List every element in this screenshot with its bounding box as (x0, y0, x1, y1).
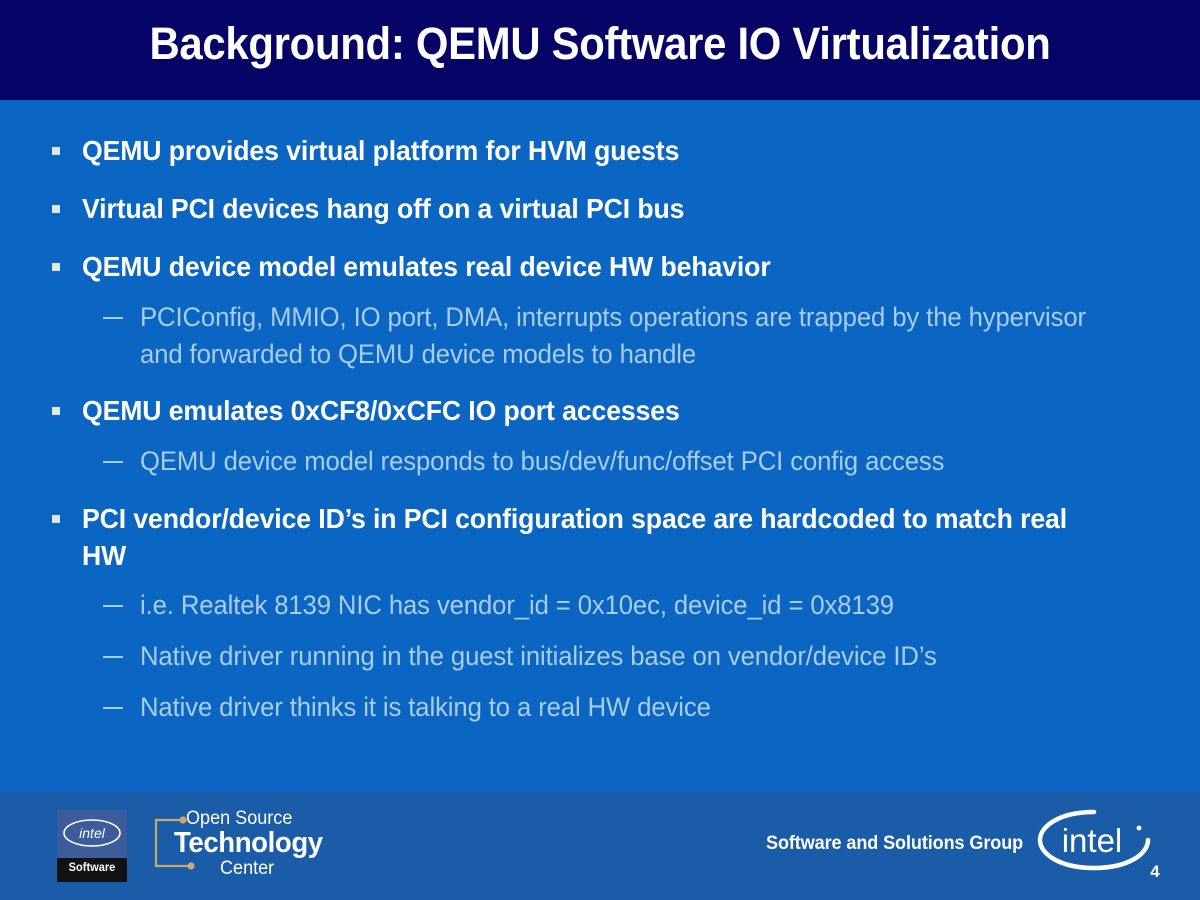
svg-text:intel: intel (79, 825, 106, 841)
page-number: 4 (1140, 862, 1170, 882)
bullet-text: QEMU device model emulates real device H… (82, 248, 771, 285)
svg-text:intel: intel (1062, 822, 1123, 859)
sub-bullet-item-1: PCIConfig, MMIO, IO port, DMA, interrupt… (103, 299, 1138, 373)
ostc-line-technology: Technology (174, 827, 323, 860)
bullet-text: Virtual PCI devices hang off on a virtua… (82, 190, 684, 227)
ostc-line-center: Center (220, 858, 274, 880)
sub-bullet-item-3: i.e. Realtek 8139 NIC has vendor_id = 0x… (103, 587, 1138, 624)
sub-bullet-item-5: Native driver thinks it is talking to a … (103, 689, 1138, 726)
bullet-item-4: QEMU emulates 0xCF8/0xCFC IO port access… (52, 392, 1152, 429)
sub-bullet-text: i.e. Realtek 8139 NIC has vendor_id = 0x… (140, 587, 894, 624)
intel-logo-icon: intel (1036, 806, 1156, 874)
square-bullet-icon (52, 263, 60, 271)
sub-bullet-text: Native driver thinks it is talking to a … (140, 689, 711, 726)
badge-division-label: Software (60, 860, 124, 874)
dash-bullet-icon (103, 461, 123, 463)
page-title: Background: QEMU Software IO Virtualizat… (42, 14, 1158, 74)
intel-software-badge: intel Software (57, 810, 127, 882)
dash-bullet-icon (103, 656, 123, 658)
dash-bullet-icon (103, 707, 123, 709)
bullet-text: QEMU emulates 0xCF8/0xCFC IO port access… (82, 392, 680, 429)
square-bullet-icon (52, 205, 60, 213)
sub-bullet-text: PCIConfig, MMIO, IO port, DMA, interrupt… (140, 299, 1088, 373)
square-bullet-icon (52, 515, 60, 523)
title-band: Background: QEMU Software IO Virtualizat… (0, 0, 1200, 100)
sub-bullet-item-2: QEMU device model responds to bus/dev/fu… (103, 443, 1163, 480)
bullet-text: QEMU provides virtual platform for HVM g… (82, 132, 679, 169)
square-bullet-icon (52, 147, 60, 155)
slide-body: QEMU provides virtual platform for HVM g… (0, 100, 1200, 792)
intel-small-logo-icon: intel (57, 818, 127, 853)
bullet-item-2: Virtual PCI devices hang off on a virtua… (52, 190, 1152, 227)
sub-bullet-text: Native driver running in the guest initi… (140, 638, 937, 675)
open-source-technology-center-logo: Open Source Technology Center (150, 808, 340, 886)
slide: Background: QEMU Software IO Virtualizat… (0, 0, 1200, 900)
dash-bullet-icon (103, 605, 123, 607)
dash-bullet-icon (103, 317, 123, 319)
bullet-item-5: PCI vendor/device ID’s in PCI configurat… (52, 500, 1132, 574)
bullet-text: PCI vendor/device ID’s in PCI configurat… (82, 500, 1080, 574)
sub-bullet-text: QEMU device model responds to bus/dev/fu… (140, 443, 944, 480)
bullet-item-3: QEMU device model emulates real device H… (52, 248, 1152, 285)
sub-bullet-item-4: Native driver running in the guest initi… (103, 638, 1163, 675)
software-and-solutions-group-label: Software and Solutions Group (766, 833, 1023, 855)
bullet-item-1: QEMU provides virtual platform for HVM g… (52, 132, 1152, 169)
square-bullet-icon (52, 407, 60, 415)
